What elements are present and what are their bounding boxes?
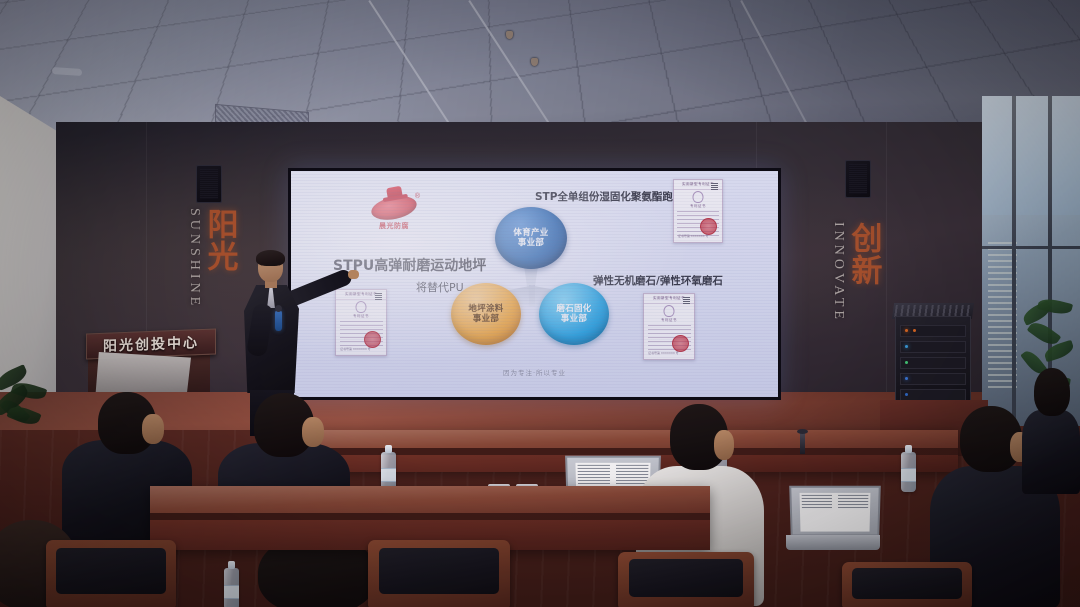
table-edge [150, 513, 710, 520]
division-circle-flooring[interactable]: 地坪涂料 事业部 [451, 283, 521, 345]
wall-speaker [196, 165, 222, 203]
chair[interactable] [618, 552, 754, 607]
presenter-hair [256, 250, 285, 266]
wall-speaker [845, 160, 871, 198]
wall-seam [886, 122, 887, 402]
patent-certificate: 实用新型专利证书 专利证书 证书号第 XXXXXXX 号 [643, 293, 695, 360]
division-label-line2: 事业部 [518, 238, 544, 248]
company-logo-label: 晨光防腐 [369, 221, 419, 231]
certificate-footer: 证书号第 XXXXXXX 号 [648, 351, 679, 355]
presenter-hand [348, 270, 359, 279]
certificate-red-seal [672, 335, 689, 352]
document-pane-left [799, 493, 834, 532]
division-label-line1: 地坪涂料 [468, 304, 503, 314]
logo-hat-shape [386, 186, 403, 200]
desk-microphone[interactable] [800, 432, 805, 454]
bottle-label [381, 468, 396, 482]
wall-art-sunshine: 阳光 SUNSHINE [186, 208, 233, 309]
chair[interactable] [842, 562, 972, 607]
bottle-label [224, 585, 239, 600]
presentation-screen[interactable]: ® 晨光防腐 STP全单组份湿固化聚氨酯跑道 STPU高弹耐磨运动地坪 将替代P… [288, 168, 781, 400]
certificate-subtitle: 专利证书 [674, 203, 722, 208]
wall-art-innovate-english: INNOVATE [830, 222, 846, 323]
potted-plant [0, 406, 60, 526]
audience-face [714, 430, 734, 460]
division-diagram: 体育产业 事业部 地坪涂料 事业部 磨石固化 事业部 [451, 207, 611, 352]
slide-label-top: STP全单组份湿固化聚氨酯跑道 [535, 189, 683, 204]
division-label-line1: 磨石固化 [556, 304, 591, 314]
division-circle-terrazzo[interactable]: 磨石固化 事业部 [539, 283, 609, 345]
rack-unit [900, 341, 966, 353]
wall-art-sunshine-english: SUNSHINE [186, 208, 202, 309]
laptop-keyboard-base[interactable] [786, 535, 881, 550]
division-label-line1: 体育产业 [513, 228, 548, 238]
chair[interactable] [46, 540, 176, 607]
certificate-qr-icon [683, 297, 690, 304]
laptop[interactable] [790, 486, 876, 550]
division-circle-sports[interactable]: 体育产业 事业部 [495, 207, 567, 269]
audience-face [142, 414, 164, 444]
division-label-line2: 事业部 [473, 314, 499, 324]
conference-room-photo: 阳光 SUNSHINE 创新 INNOVATE 阳光创投中心 ® 晨光防腐 ST… [0, 0, 1080, 607]
water-bottle[interactable] [901, 452, 916, 492]
certificate-title: 实用新型专利证书 [653, 296, 685, 301]
certificate-emblem-icon [664, 305, 675, 317]
registered-trademark-icon: ® [415, 193, 420, 200]
slide-canvas: ® 晨光防腐 STP全单组份湿固化聚氨酯跑道 STPU高弹耐磨运动地坪 将替代P… [291, 171, 778, 397]
wall-art-innovate-chinese: 创新 [848, 222, 877, 286]
certificate-subtitle: 专利证书 [644, 317, 694, 322]
certificate-qr-icon [375, 293, 382, 300]
podium-sign-label: 阳光创投中心 [103, 332, 199, 356]
slide-footer-note: 因为专注·所以专业 [291, 367, 778, 377]
rack-unit [900, 373, 966, 385]
audience-member [1022, 368, 1080, 488]
audience-suit [1022, 410, 1080, 494]
bottle-label [901, 468, 916, 482]
company-logo: ® 晨光防腐 [369, 185, 419, 231]
patent-certificate: 实用新型专利证书 专利证书 证书号第 XXXXXXX 号 [673, 179, 723, 243]
certificate-qr-icon [711, 183, 718, 190]
slide-label-right: 弹性无机磨石/弹性环氧磨石 [593, 273, 723, 288]
certificate-red-seal [364, 331, 381, 348]
audience-head [1034, 368, 1070, 416]
laptop-document [799, 493, 870, 532]
table-surface [150, 486, 710, 513]
wall-art-sunshine-chinese: 阳光 [204, 208, 233, 272]
certificate-footer: 证书号第 XXXXXXX 号 [678, 234, 709, 238]
certificate-title: 实用新型专利证书 [682, 182, 714, 187]
document-pane-right [836, 493, 871, 532]
division-label-line2: 事业部 [561, 314, 587, 324]
water-bottle[interactable] [224, 568, 239, 607]
chair[interactable] [368, 540, 510, 607]
rack-unit [900, 357, 966, 369]
rack-unit [900, 325, 966, 337]
certificate-emblem-icon [693, 191, 704, 203]
audience-face [302, 417, 324, 447]
wall-art-innovate: 创新 INNOVATE [830, 222, 877, 323]
microphone-icon [275, 310, 282, 331]
laptop-screen[interactable] [789, 486, 881, 537]
